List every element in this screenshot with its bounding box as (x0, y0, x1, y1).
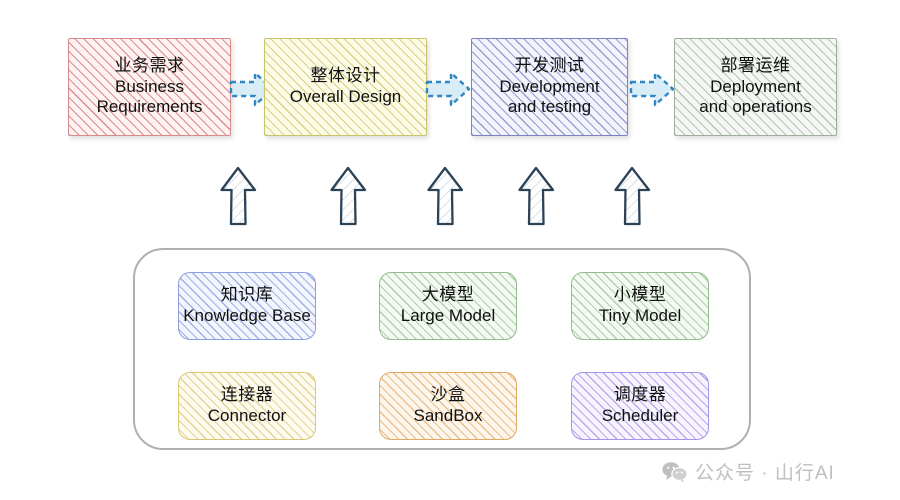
stage-label-en-line1: Deployment (710, 77, 801, 98)
stage-box-development-and-testing[interactable]: 开发测试 Development and testing (471, 38, 628, 136)
capability-label-en: Large Model (401, 306, 496, 327)
capability-box-connector[interactable]: 连接器 Connector (178, 372, 316, 440)
capability-label-en: Scheduler (602, 406, 679, 427)
capability-box-large-model[interactable]: 大模型 Large Model (379, 272, 517, 340)
capability-label-en: Knowledge Base (183, 306, 311, 327)
capability-label-en: Connector (208, 406, 286, 427)
flow-arrow-2 (425, 69, 471, 109)
capability-box-tiny-model[interactable]: 小模型 Tiny Model (571, 272, 709, 340)
stage-label-en-line1: Development (499, 77, 599, 98)
support-arrow-4 (516, 165, 556, 227)
stage-label-en-line1: Overall Design (290, 87, 402, 108)
support-arrow-1 (218, 165, 258, 227)
capability-label-cn: 沙盒 (431, 385, 466, 406)
stage-label-en-line2: Requirements (97, 97, 203, 118)
stage-label-cn: 整体设计 (311, 66, 381, 87)
stage-label-cn: 部署运维 (721, 56, 791, 77)
stage-label-cn: 业务需求 (115, 56, 185, 77)
capability-label-cn: 大模型 (422, 285, 475, 306)
support-arrow-5 (612, 165, 652, 227)
stage-box-business-requirements[interactable]: 业务需求 Business Requirements (68, 38, 231, 136)
capability-label-en: Tiny Model (599, 306, 682, 327)
capability-box-sandbox[interactable]: 沙盒 SandBox (379, 372, 517, 440)
capability-box-scheduler[interactable]: 调度器 Scheduler (571, 372, 709, 440)
wechat-icon (662, 461, 688, 483)
stage-label-cn: 开发测试 (515, 56, 585, 77)
capability-box-knowledge-base[interactable]: 知识库 Knowledge Base (178, 272, 316, 340)
capability-label-en: SandBox (414, 406, 483, 427)
diagram-canvas: 业务需求 Business Requirements 整体设计 Overall … (0, 0, 900, 500)
stage-label-en-line2: and testing (508, 97, 591, 118)
support-arrow-3 (425, 165, 465, 227)
support-arrow-2 (328, 165, 368, 227)
flow-arrow-3 (629, 69, 675, 109)
capability-label-cn: 连接器 (221, 385, 274, 406)
stage-label-en-line2: and operations (699, 97, 811, 118)
stage-box-overall-design[interactable]: 整体设计 Overall Design (264, 38, 427, 136)
capability-label-cn: 知识库 (221, 285, 274, 306)
stage-box-deployment-and-operations[interactable]: 部署运维 Deployment and operations (674, 38, 837, 136)
watermark-text: 公众号 · 山行AI (695, 458, 835, 485)
capability-label-cn: 调度器 (614, 385, 667, 406)
watermark: 公众号 · 山行AI (662, 458, 835, 485)
capability-label-cn: 小模型 (614, 285, 667, 306)
stage-label-en-line1: Business (115, 77, 184, 98)
